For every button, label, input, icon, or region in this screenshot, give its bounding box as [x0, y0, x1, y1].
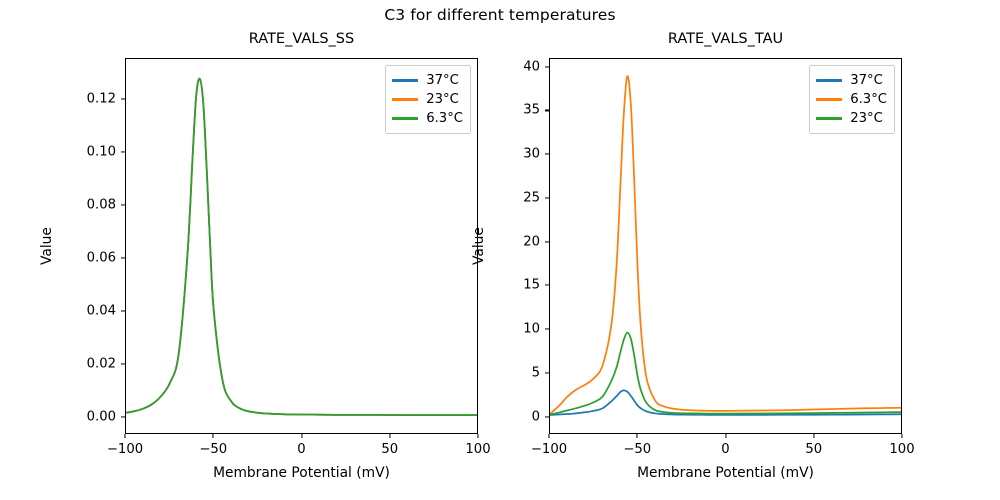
y-tick-mark: [121, 151, 125, 152]
legend-entry[interactable]: 37°C: [392, 71, 463, 90]
y-tick-label: 0.10: [87, 145, 116, 160]
x-tick-mark: [301, 434, 302, 438]
x-tick-label: 100: [889, 442, 914, 457]
x-tick-mark: [389, 434, 390, 438]
legend-entry[interactable]: 23°C: [392, 90, 463, 109]
legend-label: 6.3°C: [426, 111, 463, 126]
y-tick-mark: [545, 110, 549, 111]
x-tick-mark: [213, 434, 214, 438]
x-tick-label: −100: [531, 442, 567, 457]
y-tick-label: 40: [523, 59, 540, 74]
y-tick-label: 20: [523, 234, 540, 249]
subplot-rate-vals-tau: RATE_VALS_TAU 0510152025303540−100−50050…: [549, 58, 902, 434]
x-tick-label: 0: [721, 442, 729, 457]
y-tick-mark: [545, 241, 549, 242]
legend-label: 37°C: [850, 73, 883, 88]
y-tick-mark: [121, 310, 125, 311]
y-tick-label: 15: [523, 278, 540, 293]
x-tick-mark: [725, 434, 726, 438]
x-tick-mark: [901, 434, 902, 438]
x-tick-label: −50: [623, 442, 651, 457]
legend-line-swatch-icon: [392, 117, 418, 119]
y-tick-mark: [121, 363, 125, 364]
x-tick-label: 50: [805, 442, 822, 457]
legend-entry[interactable]: 23°C: [816, 109, 887, 128]
legend-entry[interactable]: 6.3°C: [392, 109, 463, 128]
xlabel-right: Membrane Potential (mV): [549, 465, 902, 481]
legend-entry[interactable]: 37°C: [816, 71, 887, 90]
y-tick-mark: [121, 257, 125, 258]
matplotlib-figure: C3 for different temperatures RATE_VALS_…: [0, 0, 1000, 500]
y-tick-label: 25: [523, 190, 540, 205]
x-tick-mark: [477, 434, 478, 438]
legend-label: 23°C: [426, 92, 459, 107]
y-tick-mark: [545, 197, 549, 198]
y-tick-label: 35: [523, 103, 540, 118]
y-tick-label: 5: [532, 365, 540, 380]
y-tick-label: 0.08: [87, 197, 116, 212]
x-tick-label: −100: [107, 442, 143, 457]
y-tick-label: 0.00: [87, 409, 116, 424]
legend-line-swatch-icon: [392, 79, 418, 81]
subplot-title-right: RATE_VALS_TAU: [549, 31, 902, 47]
legend-label: 23°C: [850, 111, 883, 126]
figure-suptitle: C3 for different temperatures: [0, 6, 1000, 24]
legend-left[interactable]: 37°C23°C6.3°C: [385, 65, 471, 134]
ylabel-right: Value: [471, 227, 487, 265]
legend-right[interactable]: 37°C6.3°C23°C: [809, 65, 895, 134]
y-tick-mark: [545, 329, 549, 330]
y-tick-mark: [545, 372, 549, 373]
y-tick-label: 10: [523, 322, 540, 337]
y-tick-label: 0: [532, 409, 540, 424]
y-tick-mark: [545, 416, 549, 417]
y-tick-mark: [545, 66, 549, 67]
y-tick-label: 0.04: [87, 303, 116, 318]
x-tick-mark: [124, 434, 125, 438]
x-tick-mark: [813, 434, 814, 438]
y-tick-label: 30: [523, 147, 540, 162]
legend-label: 37°C: [426, 73, 459, 88]
subplot-title-left: RATE_VALS_SS: [125, 31, 478, 47]
y-tick-label: 0.12: [87, 92, 116, 107]
legend-line-swatch-icon: [816, 79, 842, 81]
legend-line-swatch-icon: [816, 117, 842, 119]
ylabel-left: Value: [39, 227, 55, 265]
xlabel-left: Membrane Potential (mV): [125, 465, 478, 481]
legend-line-swatch-icon: [392, 98, 418, 100]
y-tick-label: 0.02: [87, 356, 116, 371]
subplot-rate-vals-ss: RATE_VALS_SS 0.000.020.040.060.080.100.1…: [125, 58, 478, 434]
line-series-23C: [550, 333, 901, 415]
x-tick-mark: [548, 434, 549, 438]
y-tick-label: 0.06: [87, 250, 116, 265]
x-tick-mark: [637, 434, 638, 438]
legend-entry[interactable]: 6.3°C: [816, 90, 887, 109]
y-tick-mark: [121, 204, 125, 205]
y-tick-mark: [545, 285, 549, 286]
legend-line-swatch-icon: [816, 98, 842, 100]
y-tick-mark: [121, 416, 125, 417]
y-tick-mark: [121, 98, 125, 99]
x-tick-label: 100: [465, 442, 490, 457]
x-tick-label: −50: [199, 442, 227, 457]
x-tick-label: 50: [381, 442, 398, 457]
y-tick-mark: [545, 154, 549, 155]
legend-label: 6.3°C: [850, 92, 887, 107]
x-tick-label: 0: [297, 442, 305, 457]
